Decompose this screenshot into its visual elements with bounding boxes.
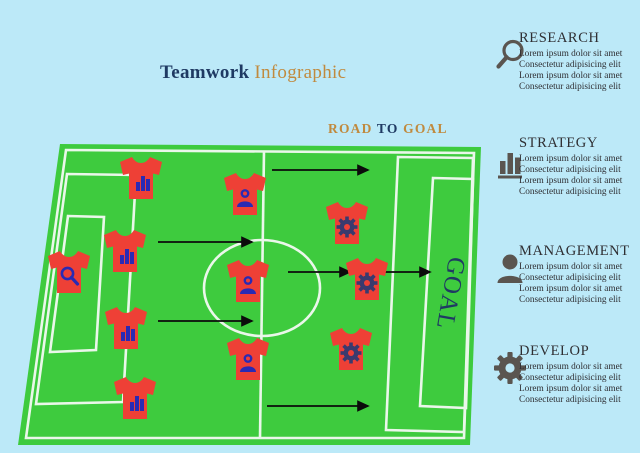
management-heading: MANAGEMENT	[519, 243, 640, 260]
strategy-text-block: STRATEGY Lorem ipsum dolor sit amet Cons…	[519, 135, 640, 198]
infographic-canvas: Teamwork Infographic ROAD TO GOAL	[0, 0, 640, 453]
research-line-3: Lorem ipsum dolor sit amet	[519, 71, 640, 82]
research-line-4: Consectetur adipisicing elit	[519, 82, 640, 93]
player-chart-bottom-left[interactable]	[106, 372, 164, 424]
player-chart-top-left[interactable]	[112, 152, 170, 204]
develop-text-block: DEVELOP Lorem ipsum dolor sit amet Conse…	[519, 343, 640, 406]
player-gear-mid-right[interactable]	[338, 253, 396, 305]
research-heading: RESEARCH	[519, 30, 640, 47]
info-panel: RESEARCH Lorem ipsum dolor sit amet Cons…	[492, 0, 640, 453]
strategy-line-3: Lorem ipsum dolor sit amet	[519, 176, 640, 187]
develop-heading: DEVELOP	[519, 343, 640, 360]
player-person-center[interactable]	[219, 255, 277, 307]
player-gear-bottom-right[interactable]	[322, 323, 380, 375]
gear-icon	[357, 273, 378, 294]
strategy-line-1: Lorem ipsum dolor sit amet	[519, 154, 640, 165]
player-search-far-left[interactable]	[40, 246, 98, 298]
research-line-1: Lorem ipsum dolor sit amet	[519, 49, 640, 60]
strategy-line-2: Consectetur adipisicing elit	[519, 165, 640, 176]
player-person-bottom[interactable]	[219, 333, 277, 385]
player-person-top-center[interactable]	[216, 168, 274, 220]
develop-line-3: Lorem ipsum dolor sit amet	[519, 384, 640, 395]
jersey-shape	[48, 251, 90, 293]
management-text-block: MANAGEMENT Lorem ipsum dolor sit amet Co…	[519, 243, 640, 306]
title-word-teamwork: Teamwork	[160, 62, 249, 83]
develop-line-1: Lorem ipsum dolor sit amet	[519, 362, 640, 373]
strategy-line-4: Consectetur adipisicing elit	[519, 187, 640, 198]
develop-line-4: Consectetur adipisicing elit	[519, 395, 640, 406]
research-text-block: RESEARCH Lorem ipsum dolor sit amet Cons…	[519, 30, 640, 93]
gear-icon	[337, 217, 358, 238]
develop-line-2: Consectetur adipisicing elit	[519, 373, 640, 384]
player-chart-low-left[interactable]	[97, 302, 155, 354]
soccer-pitch: GOAL	[0, 120, 500, 453]
management-line-2: Consectetur adipisicing elit	[519, 273, 640, 284]
management-line-3: Lorem ipsum dolor sit amet	[519, 284, 640, 295]
gear-icon	[341, 343, 362, 364]
player-chart-mid-left[interactable]	[96, 225, 154, 277]
management-line-1: Lorem ipsum dolor sit amet	[519, 262, 640, 273]
title-word-infographic: Infographic	[254, 62, 346, 83]
research-line-2: Consectetur adipisicing elit	[519, 60, 640, 71]
management-line-4: Consectetur adipisicing elit	[519, 295, 640, 306]
strategy-heading: STRATEGY	[519, 135, 640, 152]
page-title: Teamwork Infographic	[160, 62, 346, 84]
player-gear-top-right[interactable]	[318, 197, 376, 249]
